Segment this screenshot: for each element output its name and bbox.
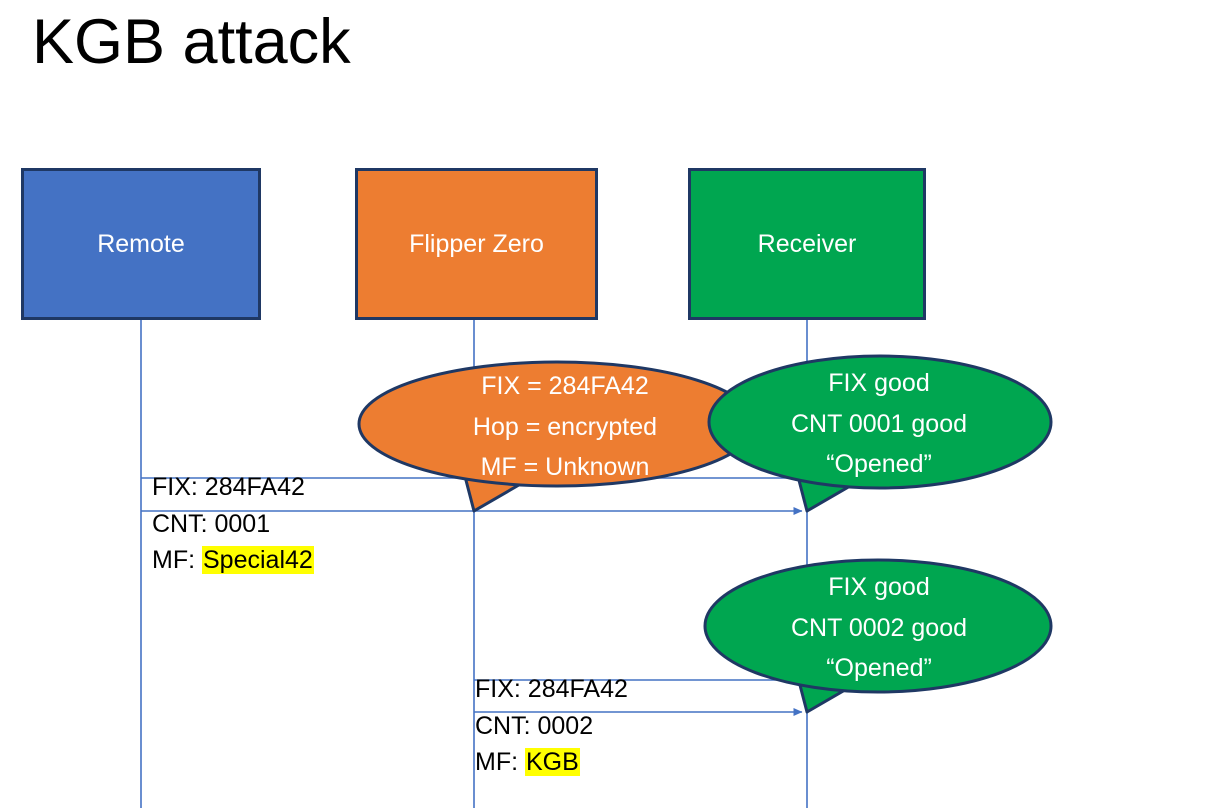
message-2-labels: FIX: 284FA42 CNT: 0002 MF: KGB [475,671,628,781]
actor-box-remote[interactable]: Remote [21,168,261,320]
actor-label-receiver: Receiver [758,229,857,259]
message-1-cnt-value: 0001 [215,510,271,538]
actor-label-flipper: Flipper Zero [409,229,544,259]
message-1-labels: FIX: 284FA42 CNT: 0001 MF: Special42 [152,469,314,579]
message-2-cnt-value: 0002 [538,712,594,740]
message-1-line-mf: MF: Special42 [152,542,314,579]
message-2-cnt-label: CNT: [475,712,538,740]
message-1-fix-label: FIX: [152,473,205,501]
message-2-line-fix: FIX: 284FA42 [475,671,628,708]
message-1-mf-label: MF: [152,546,202,574]
message-2-mf-value-highlighted: KGB [525,748,580,776]
message-2-line-mf: MF: KGB [475,744,628,781]
actor-box-receiver[interactable]: Receiver [688,168,926,320]
message-2-mf-label: MF: [475,748,525,776]
message-1-line-cnt: CNT: 0001 [152,506,314,543]
actor-label-remote: Remote [97,229,185,259]
receiver-callout-2-bubble [705,560,1051,712]
slide-canvas: KGB attack [0,0,1218,808]
message-2-line-cnt: CNT: 0002 [475,708,628,745]
message-2-fix-value: 284FA42 [528,675,628,703]
message-1-cnt-label: CNT: [152,510,215,538]
message-1-fix-value: 284FA42 [205,473,305,501]
message-1-line-fix: FIX: 284FA42 [152,469,314,506]
flipper-callout-bubble [359,362,755,511]
message-1-mf-value-highlighted: Special42 [202,546,314,574]
actor-box-flipper[interactable]: Flipper Zero [355,168,598,320]
receiver-callout-1-bubble [709,356,1051,511]
message-2-fix-label: FIX: [475,675,528,703]
